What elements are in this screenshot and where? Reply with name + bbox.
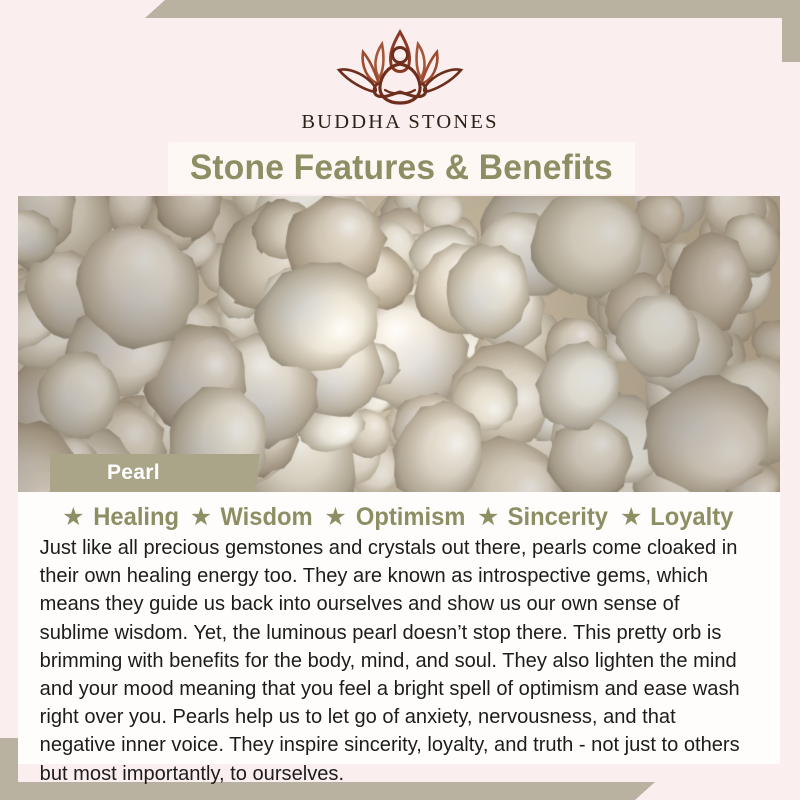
infographic-card: BUDDHA STONES Stone Features & Benefits … xyxy=(0,0,800,800)
benefit-item: ★Wisdom xyxy=(190,503,315,532)
brand-header: BUDDHA STONES xyxy=(0,18,800,140)
benefit-label: Wisdom xyxy=(221,503,313,532)
content-panel: ★Healing★Wisdom★Optimism★Sincerity★Loyal… xyxy=(18,492,780,764)
star-icon: ★ xyxy=(477,505,499,530)
decorative-band-bottom-left xyxy=(0,738,18,800)
decorative-band-top xyxy=(145,0,800,18)
star-icon: ★ xyxy=(62,505,84,530)
benefit-label: Optimism xyxy=(356,503,466,532)
benefit-item: ★Optimism xyxy=(324,503,468,532)
description-text: Just like all precious gemstones and cry… xyxy=(18,534,769,788)
benefit-label: Sincerity xyxy=(508,503,608,532)
star-icon: ★ xyxy=(324,505,346,530)
benefit-item: ★Loyalty xyxy=(620,503,736,532)
brand-wordmark: BUDDHA STONES xyxy=(301,111,498,134)
benefit-item: ★Sincerity xyxy=(477,503,611,532)
benefit-label: Loyalty xyxy=(651,503,734,532)
stone-photo: Pearl xyxy=(18,196,780,492)
title-banner: Stone Features & Benefits xyxy=(168,142,635,194)
stone-name-label: Pearl xyxy=(107,461,160,485)
page-title: Stone Features & Benefits xyxy=(190,148,613,188)
star-icon: ★ xyxy=(620,505,642,530)
benefit-label: Healing xyxy=(93,503,179,532)
stone-name-plate: Pearl xyxy=(50,454,260,492)
benefit-item: ★Healing xyxy=(62,503,181,532)
star-icon: ★ xyxy=(190,505,212,530)
benefits-row: ★Healing★Wisdom★Optimism★Sincerity★Loyal… xyxy=(18,492,780,534)
pearl-stones-image xyxy=(18,196,780,492)
lotus-meditation-icon xyxy=(325,24,475,110)
